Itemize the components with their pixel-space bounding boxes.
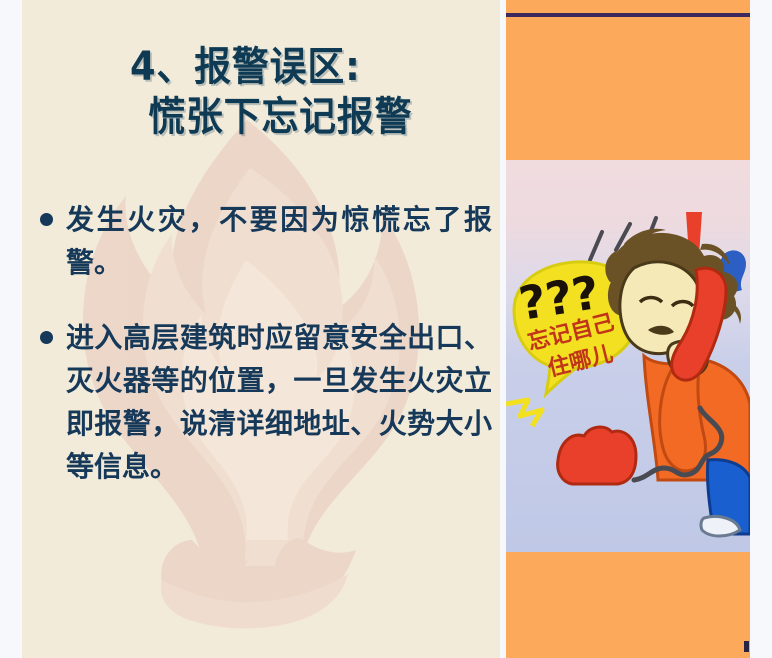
person-figure <box>605 229 750 536</box>
bullet-list: 发生火灾，不要因为惊慌忘了报警。 进入高层建筑时应留意安全出口、灭火器等的位置，… <box>40 198 492 520</box>
slide-panel: 4、报警误区: 慌张下忘记报警 发生火灾，不要因为惊慌忘了报警。 进入高层建筑时… <box>22 0 500 658</box>
title-line-2: 慌张下忘记报警 <box>41 92 481 142</box>
bullet-text: 进入高层建筑时应留意安全出口、灭火器等的位置，一旦发生火灾立即报警，说清详细地址… <box>66 316 492 488</box>
bullet-dot-icon <box>40 331 53 344</box>
phone-base-icon <box>558 427 636 484</box>
bullet-text: 发生火灾，不要因为惊慌忘了报警。 <box>66 198 492 284</box>
list-item: 发生火灾，不要因为惊慌忘了报警。 <box>40 198 492 284</box>
slide-content: 4、报警误区: 慌张下忘记报警 发生火灾，不要因为惊慌忘了报警。 进入高层建筑时… <box>22 0 500 658</box>
title-line-1: 4、报警误区: <box>41 42 481 92</box>
poster-page: 4、报警误区: 慌张下忘记报警 发生火灾，不要因为惊慌忘了报警。 进入高层建筑时… <box>0 0 772 658</box>
edge-artifact <box>744 641 749 652</box>
page-title: 4、报警误区: 慌张下忘记报警 <box>22 42 500 142</box>
bullet-dot-icon <box>40 213 53 226</box>
list-item: 进入高层建筑时应留意安全出口、灭火器等的位置，一旦发生火灾立即报警，说清详细地址… <box>40 316 492 488</box>
illustration-panel: ??? 忘记自己 住哪儿 <box>506 160 750 552</box>
divider-rule <box>506 13 750 17</box>
